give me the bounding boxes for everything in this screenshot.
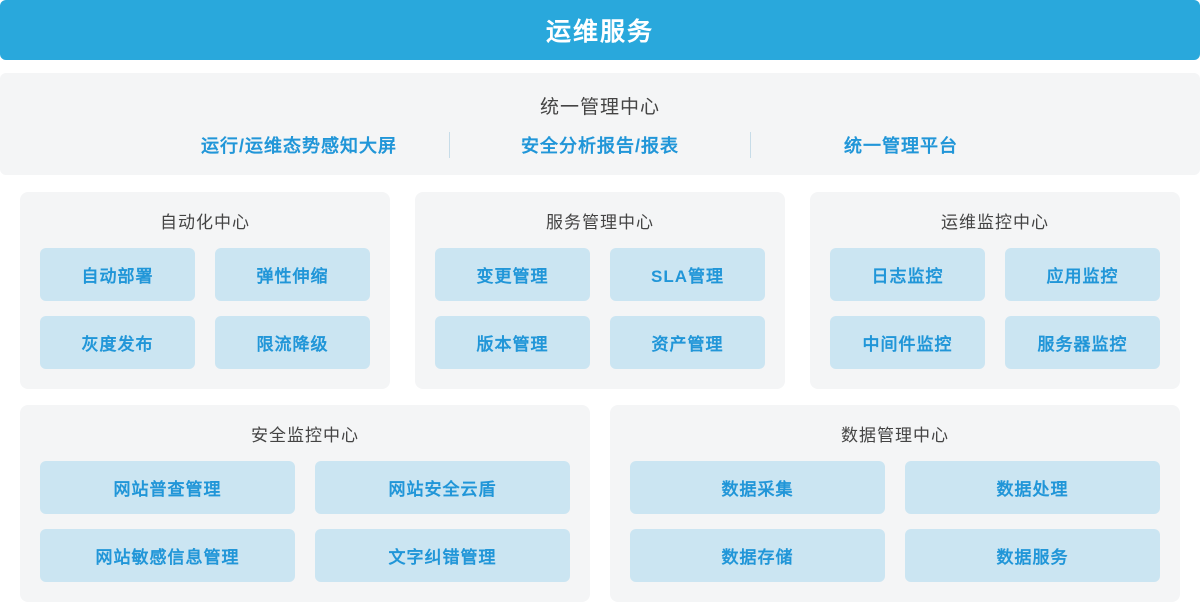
mgmt-link-unified-management-platform[interactable]: 统一管理平台 [751, 132, 1051, 158]
banner-title: 运维服务 [546, 12, 654, 48]
chip-data-storage[interactable]: 数据存储 [630, 529, 885, 582]
panel-security-monitoring-center: 安全监控中心 网站普查管理 网站安全云盾 网站敏感信息管理 文字纠错管理 [20, 405, 590, 602]
panel-row-top: 自动化中心 自动部署 弹性伸缩 灰度发布 限流降级 服务管理中心 变更管理 SL… [20, 192, 1180, 389]
chip-version-management[interactable]: 版本管理 [435, 316, 590, 369]
chip-grid-security-monitoring-center: 网站普查管理 网站安全云盾 网站敏感信息管理 文字纠错管理 [40, 461, 570, 582]
chip-server-monitoring[interactable]: 服务器监控 [1005, 316, 1160, 369]
unified-management-center-band: 统一管理中心 运行/运维态势感知大屏 安全分析报告/报表 统一管理平台 [0, 73, 1200, 175]
panel-data-management-center: 数据管理中心 数据采集 数据处理 数据存储 数据服务 [610, 405, 1180, 602]
banner-ops-service: 运维服务 [0, 0, 1200, 60]
panel-title-security-monitoring-center: 安全监控中心 [40, 421, 570, 446]
ops-service-architecture-diagram: 运维服务 统一管理中心 运行/运维态势感知大屏 安全分析报告/报表 统一管理平台… [0, 0, 1200, 602]
chip-log-monitoring[interactable]: 日志监控 [830, 248, 985, 301]
unified-management-center-title: 统一管理中心 [540, 92, 660, 119]
chip-grid-data-management-center: 数据采集 数据处理 数据存储 数据服务 [630, 461, 1160, 582]
chip-asset-management[interactable]: 资产管理 [610, 316, 765, 369]
chip-data-processing[interactable]: 数据处理 [905, 461, 1160, 514]
unified-management-center-links: 运行/运维态势感知大屏 安全分析报告/报表 统一管理平台 [0, 132, 1200, 158]
chip-application-monitoring[interactable]: 应用监控 [1005, 248, 1160, 301]
chip-grid-service-management-center: 变更管理 SLA管理 版本管理 资产管理 [435, 248, 765, 369]
chip-change-management[interactable]: 变更管理 [435, 248, 590, 301]
chip-auto-deploy[interactable]: 自动部署 [40, 248, 195, 301]
panel-ops-monitoring-center: 运维监控中心 日志监控 应用监控 中间件监控 服务器监控 [810, 192, 1180, 389]
chip-middleware-monitoring[interactable]: 中间件监控 [830, 316, 985, 369]
panel-title-service-management-center: 服务管理中心 [435, 208, 765, 233]
chip-sla-management[interactable]: SLA管理 [610, 248, 765, 301]
panel-title-automation-center: 自动化中心 [40, 208, 370, 233]
chip-data-service[interactable]: 数据服务 [905, 529, 1160, 582]
panel-automation-center: 自动化中心 自动部署 弹性伸缩 灰度发布 限流降级 [20, 192, 390, 389]
panel-title-ops-monitoring-center: 运维监控中心 [830, 208, 1160, 233]
chip-grid-automation-center: 自动部署 弹性伸缩 灰度发布 限流降级 [40, 248, 370, 369]
chip-website-sensitive-info-management[interactable]: 网站敏感信息管理 [40, 529, 295, 582]
chip-website-census-management[interactable]: 网站普查管理 [40, 461, 295, 514]
panel-service-management-center: 服务管理中心 变更管理 SLA管理 版本管理 资产管理 [415, 192, 785, 389]
mgmt-link-situational-awareness-screen[interactable]: 运行/运维态势感知大屏 [149, 132, 449, 158]
chip-website-security-cloud-shield[interactable]: 网站安全云盾 [315, 461, 570, 514]
chip-rate-limit-degrade[interactable]: 限流降级 [215, 316, 370, 369]
panel-title-data-management-center: 数据管理中心 [630, 421, 1160, 446]
chip-text-correction-management[interactable]: 文字纠错管理 [315, 529, 570, 582]
chip-data-collection[interactable]: 数据采集 [630, 461, 885, 514]
chip-gray-release[interactable]: 灰度发布 [40, 316, 195, 369]
chip-grid-ops-monitoring-center: 日志监控 应用监控 中间件监控 服务器监控 [830, 248, 1160, 369]
panel-row-bottom: 安全监控中心 网站普查管理 网站安全云盾 网站敏感信息管理 文字纠错管理 数据管… [20, 405, 1180, 602]
mgmt-link-security-analysis-report[interactable]: 安全分析报告/报表 [450, 132, 750, 158]
chip-elastic-scaling[interactable]: 弹性伸缩 [215, 248, 370, 301]
